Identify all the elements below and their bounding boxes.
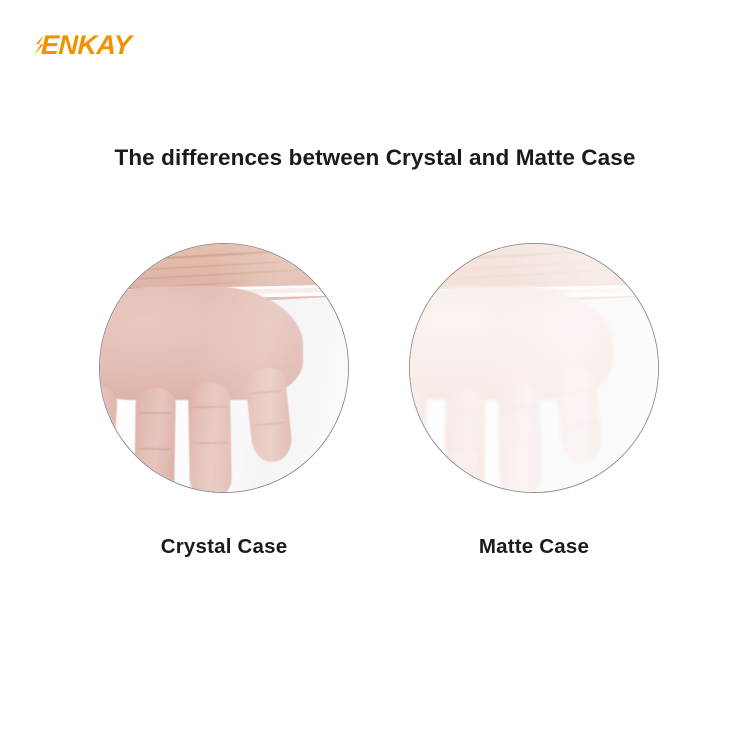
page-title: The differences between Crystal and Matt… xyxy=(0,145,750,171)
comparison-panel-matte: Matte Case xyxy=(409,243,659,493)
photo-matte-case xyxy=(409,243,659,493)
lightning-accent-icon xyxy=(34,34,45,56)
finger-3 xyxy=(498,383,542,492)
comparison-section: Crystal Case xyxy=(0,243,750,573)
photo-scene xyxy=(100,244,348,492)
finger-2 xyxy=(444,387,486,492)
finger-2 xyxy=(134,387,176,492)
photo-scene xyxy=(410,244,658,492)
caption-matte-case: Matte Case xyxy=(409,535,659,559)
comparison-panel-crystal: Crystal Case xyxy=(99,243,349,493)
caption-crystal-case: Crystal Case xyxy=(99,535,349,559)
finger-3 xyxy=(188,383,232,492)
brand-name: ENKAY xyxy=(41,32,132,59)
photo-crystal-case xyxy=(99,243,349,493)
brand-logo: ENKAY xyxy=(34,28,131,62)
